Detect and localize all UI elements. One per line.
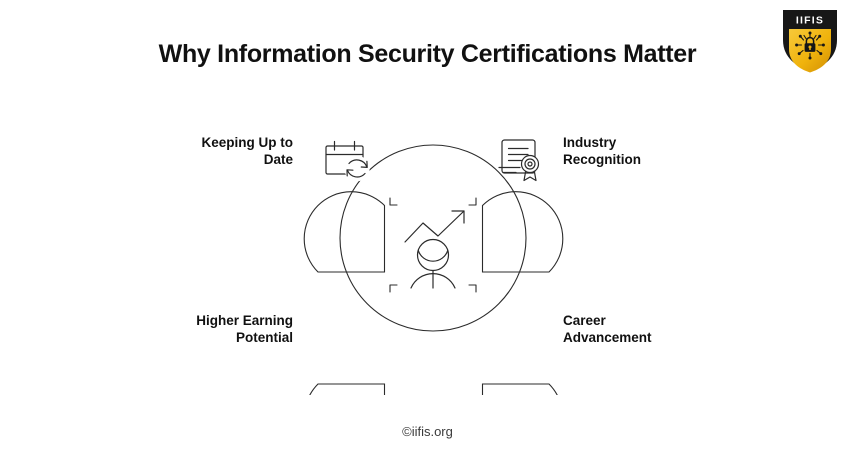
logo-wordmark: IIFIS [796, 15, 824, 27]
node-label-keeping-up-to-date: Keeping Up to Date [202, 135, 294, 169]
certificate-award-icon [499, 140, 539, 181]
footer-credit: ©iifis.org [0, 424, 855, 439]
node-label-line-1: Keeping Up to [202, 135, 294, 152]
node-label-line-1: Career [563, 313, 652, 330]
node-shape-keeping-up-to-date [304, 192, 384, 272]
calendar-refresh-icon [326, 142, 369, 181]
person-growth-arrow-icon [390, 198, 476, 292]
node-label-line-1: Higher Earning [196, 313, 293, 330]
node-label-line-2: Recognition [563, 152, 641, 169]
certification-benefits-diagram: Keeping Up to Date Industry Recognition … [0, 95, 855, 395]
node-label-line-2: Potential [196, 330, 293, 347]
node-label-industry-recognition: Industry Recognition [563, 135, 641, 169]
node-label-line-1: Industry [563, 135, 641, 152]
node-label-line-2: Date [202, 152, 294, 169]
node-label-career-advancement: Career Advancement [563, 313, 652, 347]
page-title: Why Information Security Certifications … [0, 40, 855, 69]
node-shape-higher-earning-potential [304, 384, 384, 395]
node-label-line-2: Advancement [563, 330, 652, 347]
node-label-higher-earning-potential: Higher Earning Potential [196, 313, 293, 347]
node-shape-industry-recognition [483, 192, 563, 272]
diagram-graphics [0, 95, 855, 395]
node-shape-career-advancement [483, 384, 563, 395]
